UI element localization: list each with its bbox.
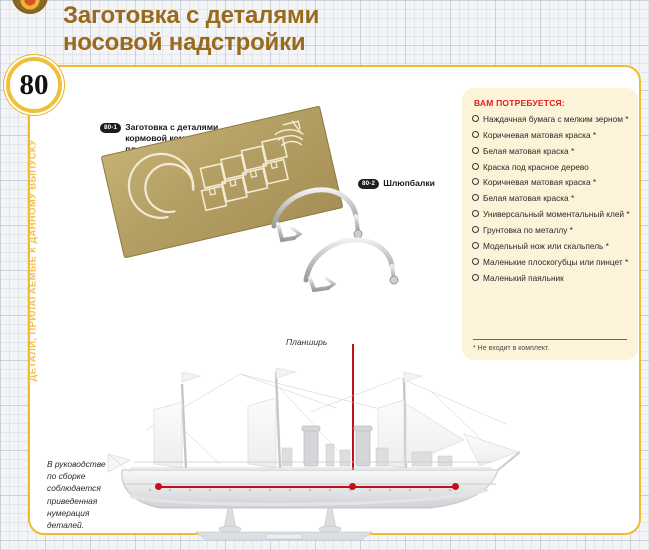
gunwale-annotation-label: Планширь <box>286 337 327 347</box>
list-item[interactable]: Белая матовая краска * <box>472 146 630 156</box>
requirements-list: Наждачная бумага с мелким зерном * Корич… <box>472 114 630 288</box>
list-item[interactable]: Маленькие плоскогубцы или пинцет * <box>472 257 630 267</box>
gunwale-marker-dot-middle <box>349 483 356 490</box>
davits-image <box>270 182 450 292</box>
requirement-text: Коричневая матовая краска * <box>483 177 596 187</box>
list-item[interactable]: Краска под красное дерево <box>472 162 630 172</box>
circle-bullet-icon <box>472 242 479 249</box>
gunwale-measure-line <box>158 486 458 488</box>
circle-bullet-icon <box>472 147 479 154</box>
requirement-text: Маленькие плоскогубцы или пинцет * <box>483 257 628 267</box>
requirement-text: Модельный нож или скальпель * <box>483 241 609 251</box>
requirements-title: ВАМ ПОТРЕБУЕТСЯ: <box>474 98 565 108</box>
side-caption: ДЕТАЛИ, ПРИЛАГАЕМЫЕ К ДАННОМУ ВЫПУСКУ <box>28 136 39 386</box>
requirements-footnote: * Не входит в комплект. <box>473 339 627 352</box>
list-item[interactable]: Грунтовка по металлу * <box>472 225 630 235</box>
requirement-text: Белая матовая краска * <box>483 146 574 156</box>
part-number-badge: 80-1 <box>100 123 121 133</box>
gunwale-marker-dot-right <box>452 483 459 490</box>
requirement-text: Краска под красное дерево <box>483 162 589 172</box>
list-item[interactable]: Коричневая матовая краска * <box>472 130 630 140</box>
circle-bullet-icon <box>472 115 479 122</box>
list-item[interactable]: Модельный нож или скальпель * <box>472 241 630 251</box>
list-item[interactable]: Универсальный моментальный клей * <box>472 209 630 219</box>
circle-bullet-icon <box>472 131 479 138</box>
circle-bullet-icon <box>472 163 479 170</box>
requirement-text: Коричневая матовая краска * <box>483 130 596 140</box>
issue-number-badge: 80 <box>6 57 62 113</box>
requirements-panel: ВАМ ПОТРЕБУЕТСЯ: Наждачная бумага с мелк… <box>462 88 638 360</box>
requirement-text: Наждачная бумага с мелким зерном * <box>483 114 628 124</box>
circle-bullet-icon <box>472 194 479 201</box>
list-item[interactable]: Наждачная бумага с мелким зерном * <box>472 114 630 124</box>
list-item[interactable]: Коричневая матовая краска * <box>472 177 630 187</box>
ship-model-image <box>100 368 520 540</box>
gunwale-marker-dot-left <box>155 483 162 490</box>
issue-number-value: 80 <box>20 71 49 100</box>
list-item[interactable]: Белая матовая краска * <box>472 193 630 203</box>
circle-bullet-icon <box>472 258 479 265</box>
requirement-text: Маленький паяльник <box>483 273 564 283</box>
requirement-text: Грунтовка по металлу * <box>483 225 573 235</box>
list-item[interactable]: Маленький паяльник <box>472 273 630 283</box>
circle-bullet-icon <box>472 210 479 217</box>
circle-bullet-icon <box>472 226 479 233</box>
circle-bullet-icon <box>472 274 479 281</box>
requirement-text: Белая матовая краска * <box>483 193 574 203</box>
circle-bullet-icon <box>472 178 479 185</box>
requirement-text: Универсальный моментальный клей * <box>483 209 630 219</box>
page-title: Заготовка с деталями носовой надстройки <box>63 3 463 57</box>
